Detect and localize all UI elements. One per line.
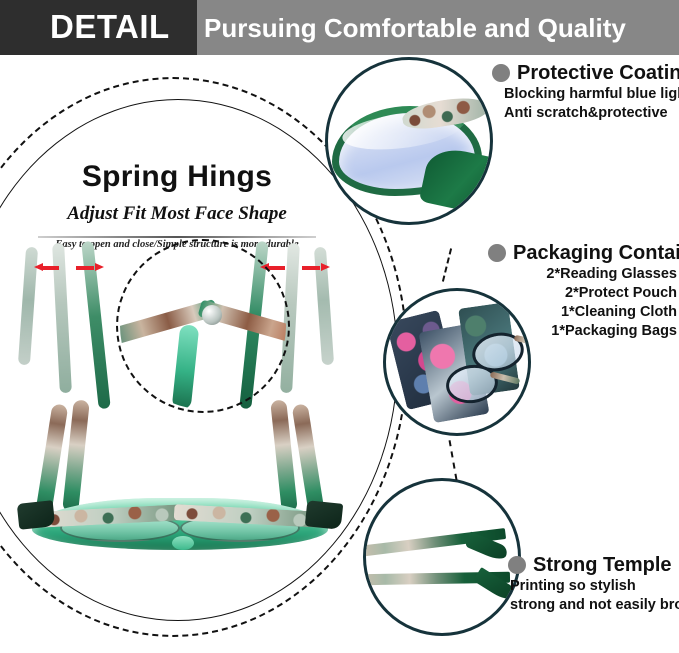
header-bar: DETAIL Pursuing Comfortable and Quality: [0, 0, 679, 55]
hinge-dashed-ring: [116, 239, 290, 413]
header-tagline: Pursuing Comfortable and Quality: [204, 9, 674, 47]
spring-hinge-panel: Spring Hings Adjust Fit Most Face Shape …: [0, 55, 360, 653]
protective-coating-photo: [325, 57, 493, 225]
bullet-dot-icon: [492, 64, 510, 82]
callout-protective-coating: Protective Coating Blocking harmful blue…: [492, 62, 679, 123]
strong-temple-photo: [363, 478, 521, 636]
product-endpiece-right: [305, 500, 344, 530]
callout-title-text: Strong Temple: [533, 554, 672, 576]
connector-packaging-to-temple: [449, 440, 458, 480]
connector-coating-to-packaging: [442, 248, 452, 281]
callout-line: Blocking harmful blue light: [504, 85, 679, 104]
bullet-dot-icon: [488, 244, 506, 262]
product-temple-right: [292, 403, 325, 512]
main-product-photo: [10, 410, 350, 600]
infographic-canvas: DETAIL Pursuing Comfortable and Quality …: [0, 0, 679, 653]
callout-line: 1*Packaging Bags: [480, 322, 677, 341]
callout-line: 1*Cleaning Cloth: [480, 303, 677, 322]
callout-title-text: Packaging Contains: [513, 242, 679, 264]
flex-arrow-right-icon: [76, 263, 102, 272]
callout-title-text: Protective Coating: [517, 62, 679, 84]
callout-line: strong and not easily broken: [510, 596, 679, 615]
callout-title: Strong Temple: [508, 554, 679, 577]
product-endpiece-left: [17, 500, 56, 530]
spring-hinge-subtitle: Adjust Fit Most Face Shape: [22, 203, 332, 225]
callout-strong-temple: Strong Temple Printing so stylish strong…: [508, 554, 679, 615]
callout-line: Anti scratch&protective: [504, 104, 679, 123]
flex-arrow-left-icon: [36, 263, 62, 272]
callout-packaging-contains: Packaging Contains 2*Reading Glasses 2*P…: [480, 242, 679, 341]
flex-arrow-pair-right: [262, 263, 334, 273]
callout-line: 2*Reading Glasses: [480, 265, 677, 284]
callout-title: Protective Coating: [492, 62, 679, 85]
callout-line: Printing so stylish: [510, 577, 679, 596]
bullet-dot-icon: [508, 556, 526, 574]
callout-title: Packaging Contains: [488, 242, 679, 265]
spring-hinge-title: Spring Hings: [22, 160, 332, 194]
callout-line: 2*Protect Pouch: [480, 284, 677, 303]
product-bridge: [172, 536, 194, 550]
flex-arrow-right-icon: [302, 263, 328, 272]
flex-arrow-pair-left: [36, 263, 108, 273]
divider-rule: [38, 236, 316, 238]
detail-badge: DETAIL: [50, 7, 190, 47]
